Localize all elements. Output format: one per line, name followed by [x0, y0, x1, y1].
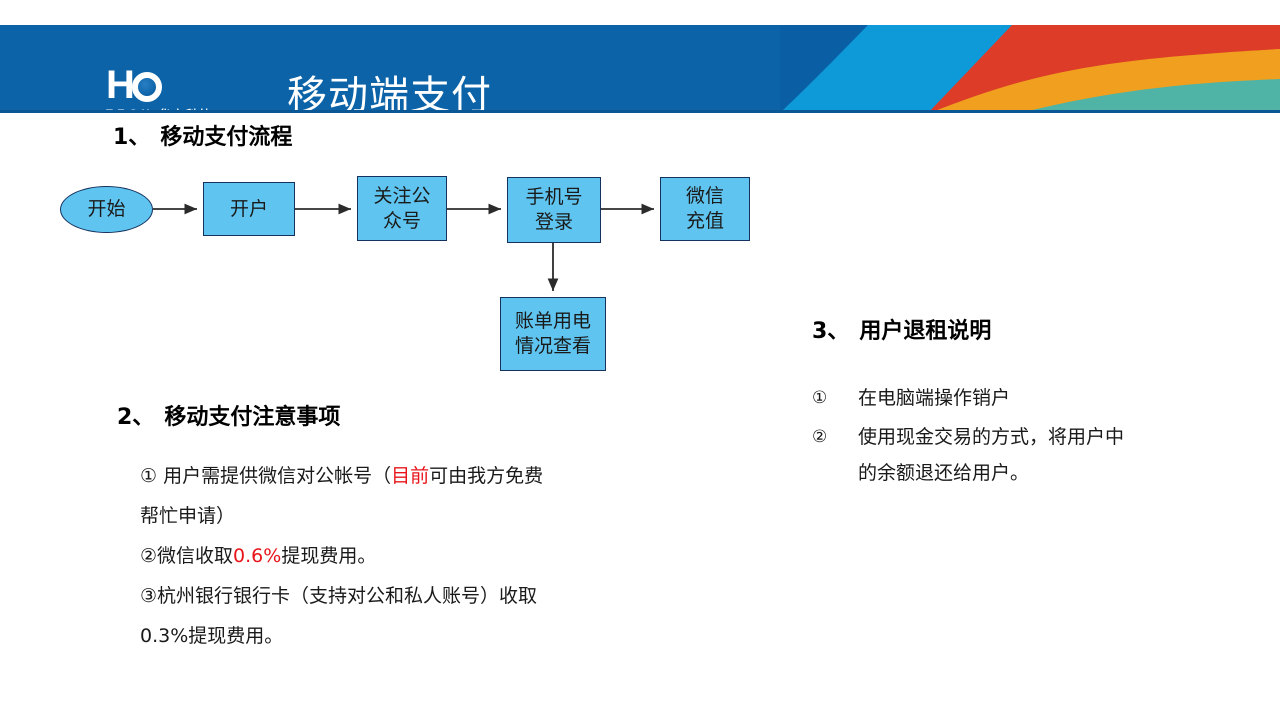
- line-1: 手机号: [525, 186, 582, 208]
- refund-list-item: ② 使用现金交易的方式，将用户中的余额退还给用户。: [812, 419, 1212, 491]
- line-2: 充值: [686, 210, 724, 232]
- flow-node-open-account-label: 开户: [230, 197, 268, 222]
- line-2: 情况查看: [515, 335, 591, 357]
- flow-node-follow-official-account: 关注公众号: [357, 176, 447, 241]
- flow-node-bill-usage-view-label: 账单用电情况查看: [515, 309, 591, 359]
- note-item-2: ②微信收取0.6%提现费用。: [140, 536, 610, 576]
- flow-node-wechat-recharge: 微信充值: [660, 177, 750, 241]
- payment-flow-diagram: 开始 开户 关注公众号 手机号登录 微信充值 账单用电情况查看: [0, 0, 800, 400]
- note-2-text-a: ②微信收取: [140, 545, 233, 567]
- logo-wordmark-before: H: [106, 63, 133, 107]
- line-2: 登录: [535, 211, 573, 233]
- line-1: 关注公: [373, 185, 430, 207]
- line-2: 众号: [383, 210, 421, 232]
- section-3-title: 用户退租说明: [859, 319, 991, 344]
- logo-wordmark: HLLEY: [106, 65, 256, 105]
- note-item-1-line-1: ① 用户需提供微信对公帐号（目前可由我方免费: [140, 456, 610, 496]
- section-2-title: 移动支付注意事项: [164, 405, 340, 430]
- refund-steps-list: ① 在电脑端操作销户 ② 使用现金交易的方式，将用户中的余额退还给用户。: [812, 380, 1212, 494]
- header-bottom-rule: [0, 110, 1280, 113]
- flow-node-start-label: 开始: [87, 197, 125, 222]
- section-3-heading: 3、用户退租说明: [812, 313, 991, 345]
- note-1-text-a: ① 用户需提供微信对公帐号（: [140, 465, 391, 487]
- note-2-text-b: 提现费用。: [281, 545, 376, 567]
- note-1-text-b: 可由我方免费: [429, 465, 543, 487]
- note-1-highlight: 目前: [391, 465, 429, 487]
- note-item-1-line-2: 帮忙申请）: [140, 496, 610, 536]
- line-1: 微信: [686, 185, 724, 207]
- section-3-number: 3、: [812, 319, 849, 344]
- line-1: 账单用电: [515, 310, 591, 332]
- page-title: 移动端支付: [287, 71, 492, 113]
- flow-node-wechat-recharge-label: 微信充值: [686, 184, 724, 234]
- refund-item-1-text: 在电脑端操作销户: [858, 380, 1212, 416]
- refund-item-2-text: 使用现金交易的方式，将用户中的余额退还给用户。: [858, 419, 1212, 491]
- flow-node-bill-usage-view: 账单用电情况查看: [500, 297, 606, 371]
- note-item-3-line-2: 0.3%提现费用。: [140, 616, 610, 656]
- section-2-heading: 2、移动支付注意事项: [117, 399, 340, 431]
- line-1: 使用现金交易的方式，将用户中: [858, 426, 1124, 448]
- note-2-highlight: 0.6%: [233, 545, 281, 567]
- section-2-number: 2、: [117, 405, 154, 430]
- refund-list-item: ① 在电脑端操作销户: [812, 380, 1212, 416]
- flow-node-phone-login: 手机号登录: [507, 177, 601, 243]
- flow-node-follow-official-account-label: 关注公众号: [373, 184, 430, 234]
- header-decorative-swoosh: [780, 25, 1280, 113]
- flow-node-open-account: 开户: [203, 182, 295, 236]
- logo-o-ring-icon: [132, 72, 162, 102]
- line-1: 在电脑端操作销户: [858, 387, 1010, 409]
- note-item-3-line-1: ③杭州银行银行卡（支持对公和私人账号）收取: [140, 576, 610, 616]
- flow-node-phone-login-label: 手机号登录: [525, 185, 582, 235]
- refund-item-2-marker: ②: [812, 419, 858, 455]
- line-2: 的余额退还给用户。: [858, 455, 1212, 491]
- payment-notes-list: ① 用户需提供微信对公帐号（目前可由我方免费 帮忙申请） ②微信收取0.6%提现…: [140, 456, 610, 656]
- flow-node-start: 开始: [60, 186, 153, 233]
- refund-item-1-marker: ①: [812, 380, 858, 416]
- holley-logo: HLLEY TECH 华立科技: [106, 65, 256, 113]
